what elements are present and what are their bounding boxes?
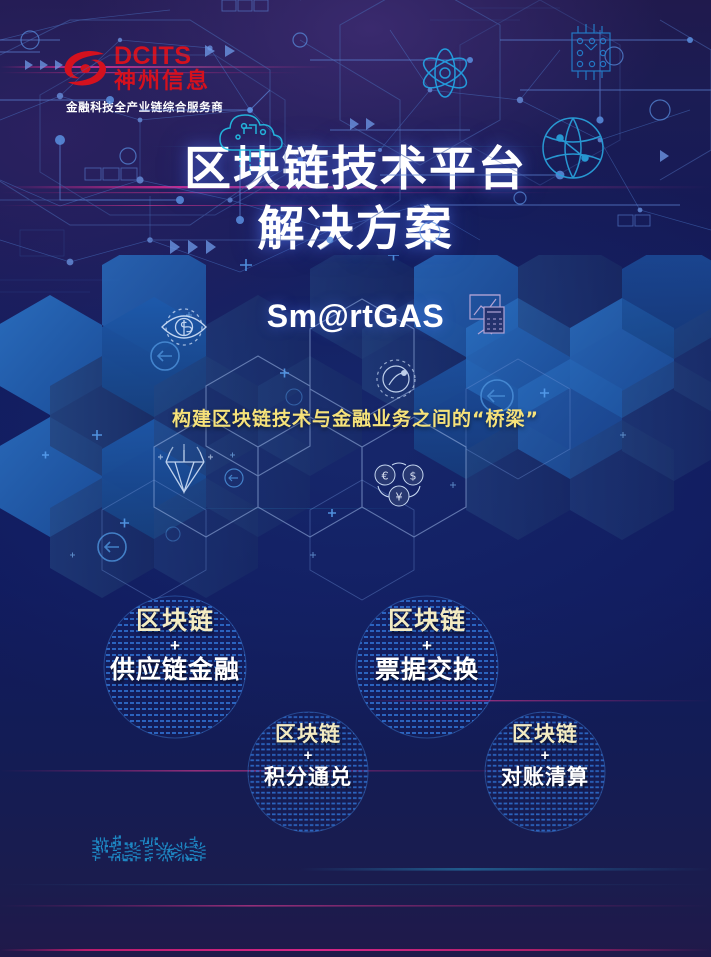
logo-en-text: DCITS — [114, 44, 210, 69]
badge-reconciliation-settlement: 区块链 + 对账清算 — [455, 707, 635, 837]
badge-plus-label: + — [322, 636, 532, 655]
logo-subtitle: 金融科技全产业链综合服务商 — [66, 99, 292, 115]
microchip-icon — [572, 24, 610, 80]
tagline: 构建区块链技术与金融业务之间的“桥梁” — [0, 404, 711, 431]
badge-bottom-label: 票据交换 — [322, 655, 532, 685]
arrow-left-circle-icon — [98, 342, 513, 561]
svg-text:€: € — [382, 470, 389, 483]
product-name: Sm@rtGAS — [0, 298, 711, 335]
badge-bottom-label: 供应链金融 — [70, 655, 280, 685]
title-line-1: 区块链技术平台 — [0, 140, 711, 200]
badge-top-label: 区块链 — [455, 721, 635, 747]
badge-top-label: 区块链 — [218, 721, 398, 747]
diamond-icon — [158, 444, 213, 492]
dcits-swoosh-icon — [62, 49, 108, 89]
poster-canvas: € $ ¥ — [0, 0, 711, 957]
currency-exchange-icon: € $ ¥ — [375, 463, 423, 506]
svg-text:$: $ — [410, 470, 417, 483]
fintech-text: FinTech — [92, 835, 206, 866]
badge-top-label: 区块链 — [70, 606, 280, 636]
svg-text:¥: ¥ — [396, 491, 403, 504]
badge-bottom-label: 对账清算 — [455, 764, 635, 790]
speedometer-icon — [377, 360, 415, 398]
title-line-2: 解决方案 — [0, 200, 711, 260]
badge-bottom-label: 积分通兑 — [218, 764, 398, 790]
atom-icon — [419, 49, 471, 97]
bottom-accent-line — [0, 949, 711, 951]
badge-plus-label: + — [455, 747, 635, 764]
brand-logo: DCITS 神州信息 金融科技全产业链综合服务商 — [62, 44, 292, 115]
badge-plus-label: + — [70, 636, 280, 655]
fintech-wordmark: FinTech — [92, 834, 292, 868]
badge-top-label: 区块链 — [322, 606, 532, 636]
page-title: 区块链技术平台 解决方案 — [0, 140, 711, 260]
badge-points-exchange: 区块链 + 积分通兑 — [218, 707, 398, 837]
logo-cn-text: 神州信息 — [114, 71, 210, 93]
badge-plus-label: + — [218, 747, 398, 764]
